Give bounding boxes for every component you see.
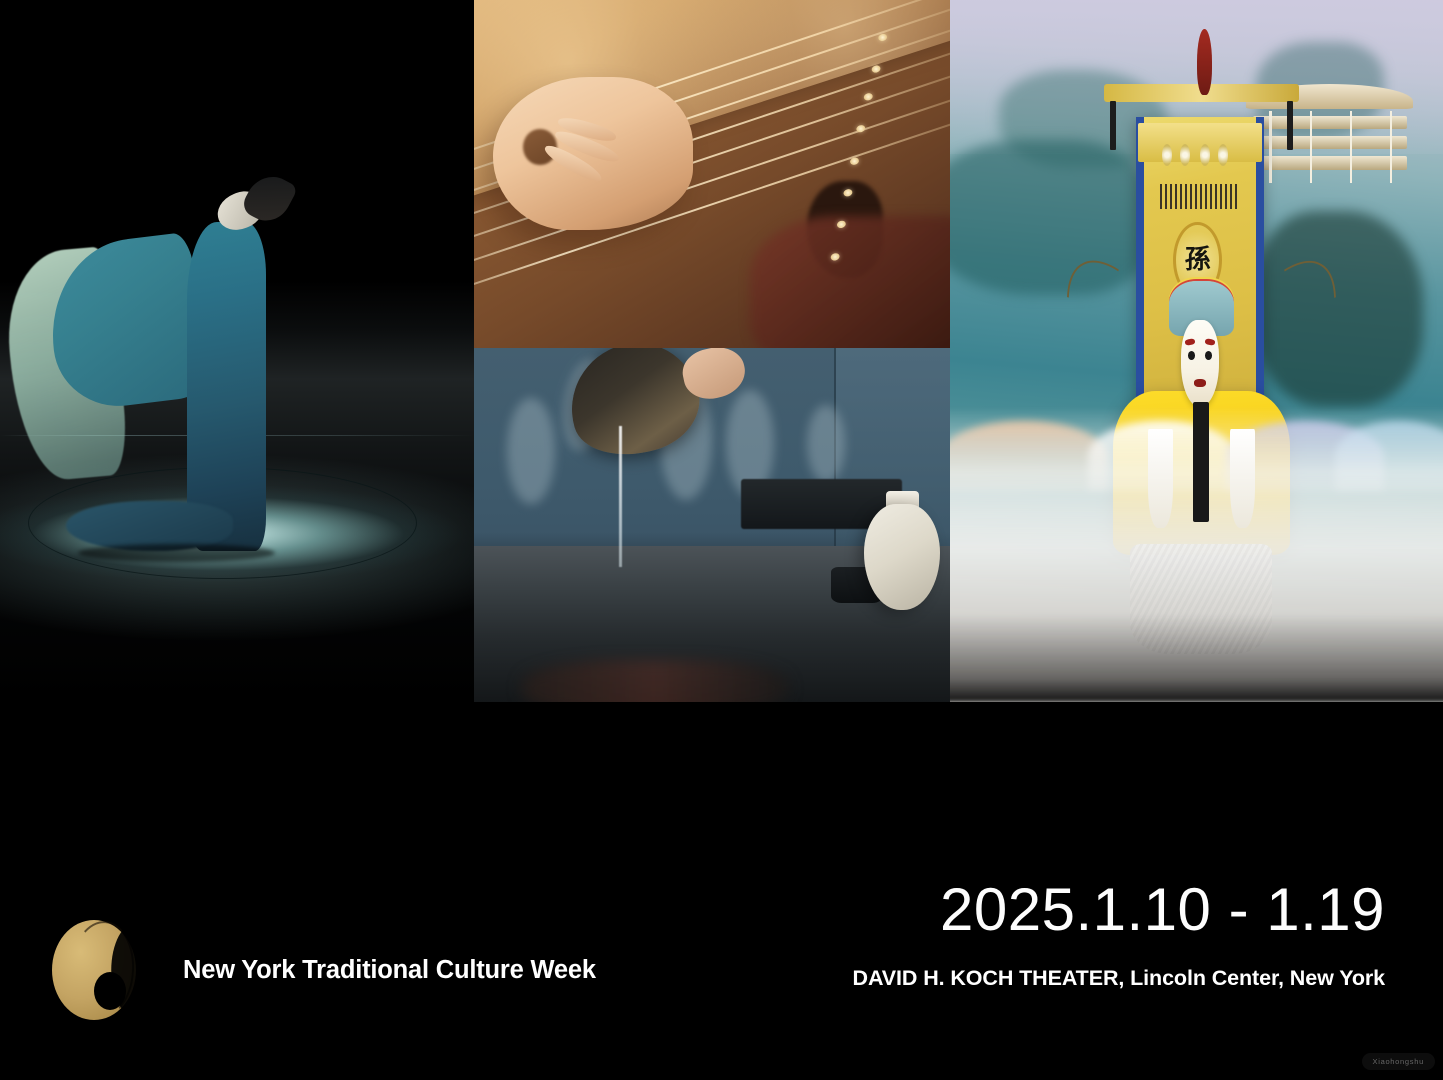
opera-beard — [1193, 402, 1209, 522]
painted-face — [1181, 320, 1219, 408]
collage-image-tea-ceremony[interactable] — [474, 348, 950, 702]
event-details: 2025.1.10 - 1.19 DAVID H. KOCH THEATER, … — [853, 880, 1385, 991]
poster-root: 孫 — [0, 0, 1443, 1080]
face-brow — [1184, 338, 1195, 346]
pavilion-tier — [1253, 116, 1407, 129]
banner-fringe — [1160, 184, 1240, 209]
face-eye — [1188, 351, 1195, 360]
pavilion-column — [1390, 111, 1393, 183]
dancer-figure — [145, 193, 297, 551]
brand-lockup: New York Traditional Culture Week — [52, 920, 596, 1020]
pavilion-column — [1310, 111, 1313, 183]
pavilion-tier — [1253, 136, 1407, 149]
steam-wisp — [507, 398, 555, 504]
robe-sash — [1148, 429, 1173, 528]
dancer-shadow — [78, 544, 275, 562]
tea-stream — [619, 426, 622, 568]
banner-plume — [1197, 29, 1212, 95]
event-venue: DAVID H. KOCH THEATER, Lincoln Center, N… — [853, 966, 1385, 991]
logo-inner-dot — [94, 972, 126, 1010]
banner-roundel — [1200, 144, 1210, 166]
banner-roundel — [1218, 144, 1228, 166]
event-date-range: 2025.1.10 - 1.19 — [853, 880, 1385, 940]
guqin-player-hand — [493, 77, 693, 230]
banner-roundel — [1162, 144, 1172, 166]
foreground-blur — [522, 660, 789, 702]
watermark-badge: Xiaohongshu — [1362, 1053, 1436, 1070]
face-brow — [1205, 338, 1216, 346]
image-collage: 孫 — [0, 0, 1443, 702]
collage-image-peking-opera[interactable]: 孫 — [950, 0, 1443, 702]
banner-glyph: 孫 — [1185, 247, 1211, 273]
pavilion-column — [1350, 111, 1353, 183]
banner-roundel — [1180, 144, 1190, 166]
steam-wisp — [807, 405, 845, 483]
pavilion-tier — [1253, 156, 1407, 169]
banner-tassel — [1110, 101, 1116, 150]
poster-text-band: New York Traditional Culture Week 2025.1… — [0, 702, 1443, 1080]
collage-image-classical-dance[interactable] — [0, 0, 474, 702]
yin-yang-circle-logo — [52, 920, 136, 1020]
collage-image-guqin-performance[interactable] — [474, 0, 950, 348]
face-mouth — [1194, 379, 1206, 387]
dancer-robe — [187, 222, 266, 551]
event-title: New York Traditional Culture Week — [183, 956, 596, 985]
face-eye — [1205, 351, 1212, 360]
banner-tassel — [1287, 101, 1293, 150]
robe-sash — [1230, 429, 1255, 528]
